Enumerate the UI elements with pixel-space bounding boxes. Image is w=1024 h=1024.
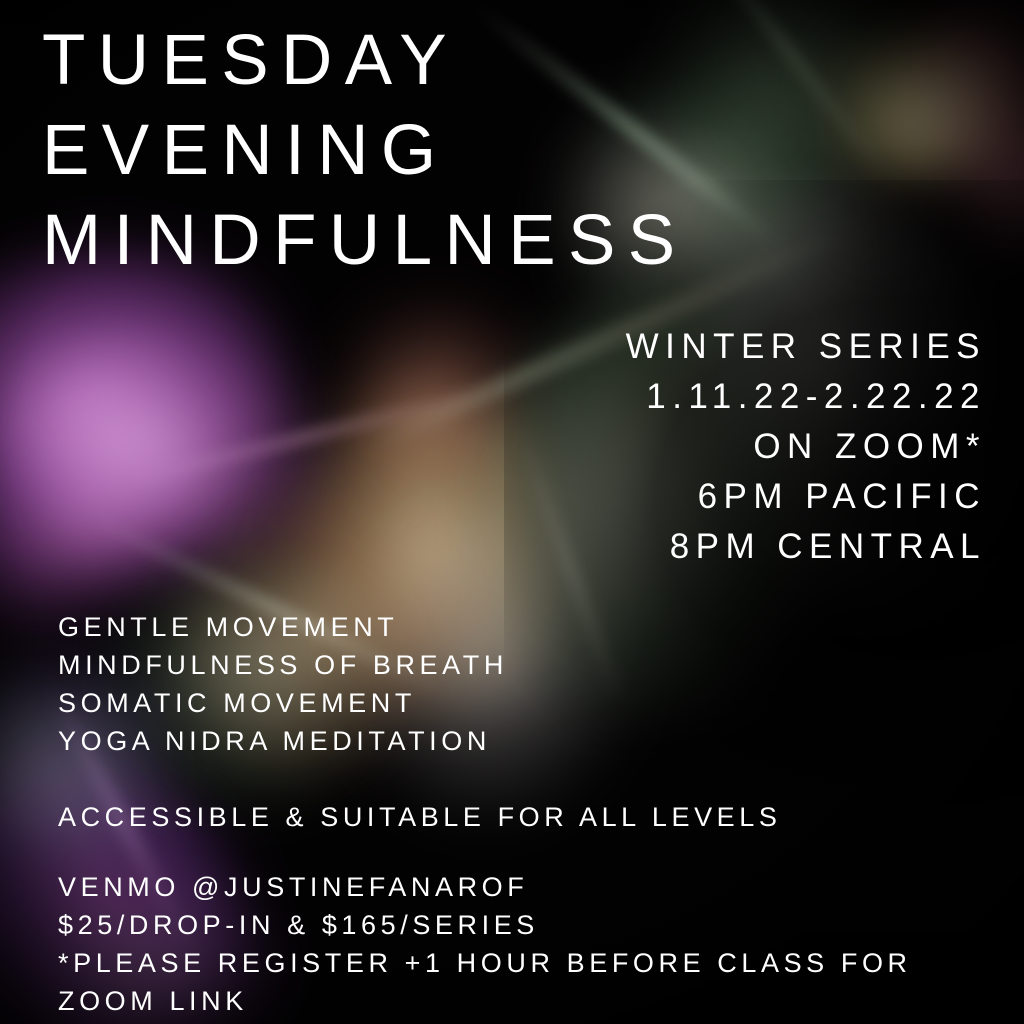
headline-line-2: EVENING xyxy=(42,106,922,196)
headline-line-1: TUESDAY xyxy=(42,16,922,106)
schedule-time-pacific: 6PM PACIFIC xyxy=(426,472,986,522)
headline-line-3: MINDFULNESS xyxy=(42,196,922,286)
offering-item-4: YOGA NIDRA MEDITATION xyxy=(58,722,508,760)
offering-item-2: MINDFULNESS OF BREATH xyxy=(58,646,508,684)
pricing-text: $25/DROP-IN & $165/SERIES xyxy=(58,906,988,944)
accessibility-statement: ACCESSIBLE & SUITABLE FOR ALL LEVELS xyxy=(58,798,781,836)
headline-title: TUESDAY EVENING MINDFULNESS xyxy=(42,16,922,286)
schedule-platform: ON ZOOM* xyxy=(426,422,986,472)
offering-item-1: GENTLE MOVEMENT xyxy=(58,608,508,646)
schedule-series-name: WINTER SERIES xyxy=(426,322,986,372)
registration-note-line-2: ZOOM LINK xyxy=(58,982,988,1020)
registration-details: VENMO @JUSTINEFANAROF $25/DROP-IN & $165… xyxy=(58,868,988,1020)
venmo-handle: VENMO @JUSTINEFANAROF xyxy=(58,868,988,906)
schedule-time-central: 8PM CENTRAL xyxy=(426,522,986,572)
mindfulness-class-flyer: TUESDAY EVENING MINDFULNESS WINTER SERIE… xyxy=(0,0,1024,1024)
offerings-list: GENTLE MOVEMENT MINDFULNESS OF BREATH SO… xyxy=(58,608,508,760)
schedule-date-range: 1.11.22-2.22.22 xyxy=(426,372,986,422)
offering-item-3: SOMATIC MOVEMENT xyxy=(58,684,508,722)
accessibility-text: ACCESSIBLE & SUITABLE FOR ALL LEVELS xyxy=(58,798,781,836)
schedule-block: WINTER SERIES 1.11.22-2.22.22 ON ZOOM* 6… xyxy=(426,322,986,572)
registration-note-line-1: *PLEASE REGISTER +1 HOUR BEFORE CLASS FO… xyxy=(58,944,988,982)
